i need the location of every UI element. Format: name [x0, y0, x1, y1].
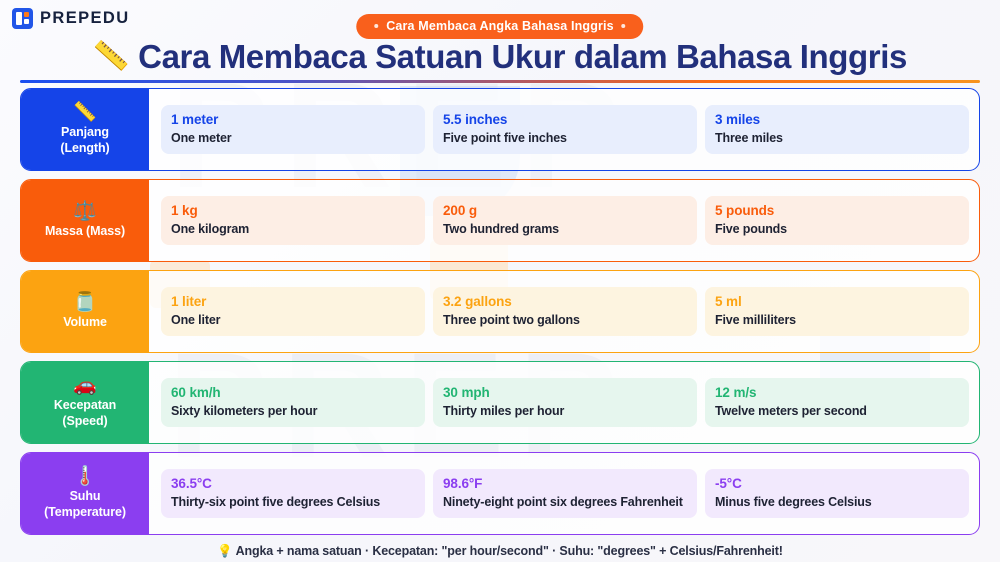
unit-example-card: 5.5 inchesFive point five inches [433, 105, 697, 154]
unit-example-card: 5 mlFive milliliters [705, 287, 969, 336]
prepedu-logo-icon [12, 8, 33, 29]
unit-example-card: 1 meterOne meter [161, 105, 425, 154]
ruler-icon: 📏 [92, 42, 130, 73]
lightbulb-icon: 💡 [217, 544, 232, 558]
page-header: PREPEDU Cara Membaca Angka Bahasa Inggri… [0, 0, 1000, 88]
footer-tip-text: Angka + nama satuan · Kecepatan: "per ho… [236, 544, 783, 558]
unit-value: 5.5 inches [443, 112, 687, 129]
unit-value: 30 mph [443, 385, 687, 402]
unit-reading: Five milliliters [715, 312, 959, 328]
unit-examples: 1 literOne liter3.2 gallonsThree point t… [149, 271, 979, 352]
unit-reading: One meter [171, 130, 415, 146]
unit-example-card: -5°CMinus five degrees Celsius [705, 469, 969, 518]
unit-example-card: 30 mphThirty miles per hour [433, 378, 697, 427]
brand-name: PREPEDU [40, 9, 130, 28]
unit-row: 🌡️Suhu(Temperature)36.5°CThirty-six poin… [20, 452, 980, 535]
unit-row-label-text: Kecepatan [54, 398, 116, 413]
balance-scale-icon: ⚖️ [73, 202, 97, 222]
unit-example-card: 1 literOne liter [161, 287, 425, 336]
unit-example-card: 98.6°FNinety-eight point six degrees Fah… [433, 469, 697, 518]
car-icon: 🚗 [73, 376, 97, 396]
title-row: 📏 Cara Membaca Satuan Ukur dalam Bahasa … [0, 38, 1000, 76]
unit-example-card: 36.5°CThirty-six point five degrees Cels… [161, 469, 425, 518]
unit-value: 5 ml [715, 294, 959, 311]
ruler-icon: 📏 [73, 103, 97, 123]
unit-reading: Three point two gallons [443, 312, 687, 328]
unit-row: 🫙Volume1 literOne liter3.2 gallonsThree … [20, 270, 980, 353]
brand-logo: PREPEDU [12, 8, 130, 29]
badge-label: Cara Membaca Angka Bahasa Inggris [386, 19, 613, 33]
unit-value: 1 meter [171, 112, 415, 129]
unit-value: 12 m/s [715, 385, 959, 402]
unit-value: 3.2 gallons [443, 294, 687, 311]
unit-example-card: 200 gTwo hundred grams [433, 196, 697, 245]
unit-reading: Ninety-eight point six degrees Fahrenhei… [443, 494, 687, 510]
unit-row-label: 📏Panjang(Length) [21, 89, 149, 170]
unit-row-label-text: Volume [63, 315, 107, 330]
unit-example-card: 3 milesThree miles [705, 105, 969, 154]
unit-row: 🚗Kecepatan(Speed)60 km/hSixty kilometers… [20, 361, 980, 444]
unit-row-label-subtext: (Speed) [62, 414, 107, 429]
unit-value: 1 liter [171, 294, 415, 311]
unit-examples: 1 kgOne kilogram200 gTwo hundred grams5 … [149, 180, 979, 261]
unit-example-card: 12 m/sTwelve meters per second [705, 378, 969, 427]
badge-dot-right-icon [622, 24, 626, 28]
jar-icon: 🫙 [73, 293, 97, 313]
unit-value: -5°C [715, 476, 959, 493]
unit-reading: One liter [171, 312, 415, 328]
unit-row-label: 🌡️Suhu(Temperature) [21, 453, 149, 534]
unit-reading: Twelve meters per second [715, 403, 959, 419]
unit-reading: Minus five degrees Celsius [715, 494, 959, 510]
unit-row-label: 🚗Kecepatan(Speed) [21, 362, 149, 443]
unit-row-label-text: Panjang [61, 125, 109, 140]
unit-reading: Five point five inches [443, 130, 687, 146]
unit-row-label: ⚖️Massa (Mass) [21, 180, 149, 261]
unit-reading: Two hundred grams [443, 221, 687, 237]
unit-value: 1 kg [171, 203, 415, 220]
topic-badge: Cara Membaca Angka Bahasa Inggris [356, 14, 643, 39]
page-title: Cara Membaca Satuan Ukur dalam Bahasa In… [138, 38, 907, 76]
unit-examples: 1 meterOne meter5.5 inchesFive point fiv… [149, 89, 979, 170]
unit-examples: 60 km/hSixty kilometers per hour30 mphTh… [149, 362, 979, 443]
footer-tip: 💡Angka + nama satuan · Kecepatan: "per h… [0, 544, 1000, 559]
unit-reading: Thirty-six point five degrees Celsius [171, 494, 415, 510]
unit-value: 98.6°F [443, 476, 687, 493]
unit-reading: Thirty miles per hour [443, 403, 687, 419]
unit-value: 60 km/h [171, 385, 415, 402]
unit-value: 5 pounds [715, 203, 959, 220]
unit-example-card: 3.2 gallonsThree point two gallons [433, 287, 697, 336]
unit-value: 3 miles [715, 112, 959, 129]
thermometer-icon: 🌡️ [73, 467, 97, 487]
unit-row-label-subtext: (Length) [60, 141, 109, 156]
unit-row: 📏Panjang(Length)1 meterOne meter5.5 inch… [20, 88, 980, 171]
unit-row-label-subtext: (Temperature) [44, 505, 126, 520]
unit-value: 36.5°C [171, 476, 415, 493]
unit-reading: One kilogram [171, 221, 415, 237]
unit-row-label-text: Massa (Mass) [45, 224, 125, 239]
unit-reading: Sixty kilometers per hour [171, 403, 415, 419]
unit-row-label-text: Suhu [70, 489, 101, 504]
unit-example-card: 1 kgOne kilogram [161, 196, 425, 245]
unit-reading: Three miles [715, 130, 959, 146]
unit-reading: Five pounds [715, 221, 959, 237]
badge-dot-left-icon [374, 24, 378, 28]
unit-examples: 36.5°CThirty-six point five degrees Cels… [149, 453, 979, 534]
unit-example-card: 5 poundsFive pounds [705, 196, 969, 245]
unit-example-card: 60 km/hSixty kilometers per hour [161, 378, 425, 427]
unit-value: 200 g [443, 203, 687, 220]
unit-rows-list: 📏Panjang(Length)1 meterOne meter5.5 inch… [20, 88, 980, 535]
unit-row-label: 🫙Volume [21, 271, 149, 352]
title-divider [20, 80, 980, 83]
unit-row: ⚖️Massa (Mass)1 kgOne kilogram200 gTwo h… [20, 179, 980, 262]
